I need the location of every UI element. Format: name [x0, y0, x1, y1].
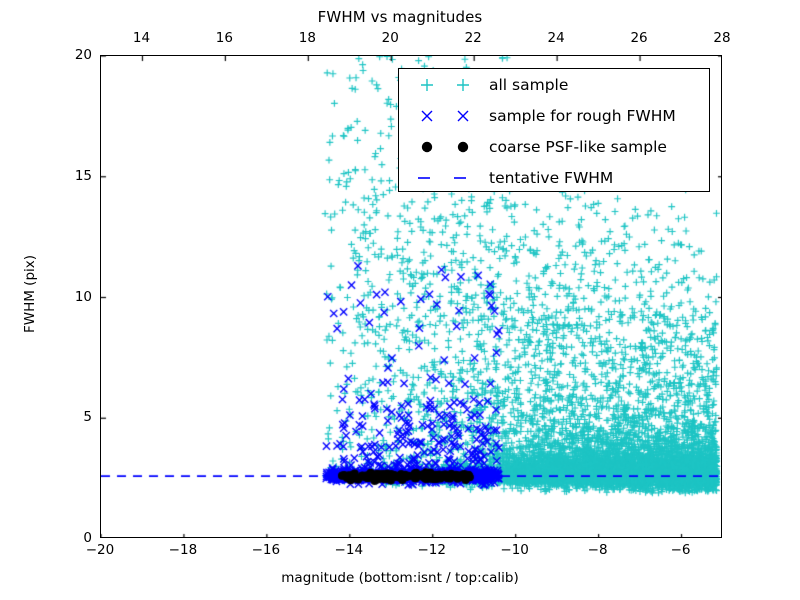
figure: FWHM vs magnitudes magnitude (bottom:isn… — [0, 0, 800, 600]
top-tick-label: 14 — [133, 30, 150, 46]
top-tick-label: 22 — [465, 30, 482, 46]
bottom-tick-label: −14 — [335, 542, 364, 558]
top-tick-label: 16 — [216, 30, 233, 46]
left-tick-label: 10 — [50, 289, 92, 305]
top-tick-label: 28 — [713, 30, 730, 46]
left-tick-label: 0 — [50, 530, 92, 546]
top-tick-label: 24 — [548, 30, 565, 46]
left-tick-label: 20 — [50, 47, 92, 63]
top-tick-label: 18 — [299, 30, 316, 46]
left-tick-label: 15 — [50, 168, 92, 184]
bottom-tick-label: −6 — [671, 542, 691, 558]
plus-marker — [405, 69, 489, 100]
circle-marker — [405, 131, 489, 162]
legend-label: tentative FWHM — [489, 169, 613, 187]
bottom-tick-label: −16 — [252, 542, 281, 558]
bottom-tick-label: −12 — [417, 542, 446, 558]
bottom-tick-label: −8 — [588, 542, 608, 558]
legend-label: sample for rough FWHM — [489, 107, 676, 125]
y-axis-label: FWHM (pix) — [22, 94, 38, 494]
legend-item: coarse PSF-like sample — [399, 131, 709, 162]
legend-label: coarse PSF-like sample — [489, 138, 667, 156]
x-axis-label: magnitude (bottom:isnt / top:calib) — [0, 570, 800, 586]
cross-marker — [405, 100, 489, 131]
legend-item: sample for rough FWHM — [399, 100, 709, 131]
legend-item: all sample — [399, 69, 709, 100]
top-tick-label: 26 — [630, 30, 647, 46]
left-tick-label: 5 — [50, 409, 92, 425]
top-tick-label: 20 — [382, 30, 399, 46]
dashed-line — [405, 162, 489, 193]
chart-title: FWHM vs magnitudes — [0, 8, 800, 26]
bottom-tick-label: −18 — [169, 542, 198, 558]
bottom-tick-label: −10 — [500, 542, 529, 558]
legend: all samplesample for rough FWHMcoarse PS… — [398, 68, 710, 192]
legend-item: tentative FWHM — [399, 162, 709, 193]
legend-label: all sample — [489, 76, 568, 94]
